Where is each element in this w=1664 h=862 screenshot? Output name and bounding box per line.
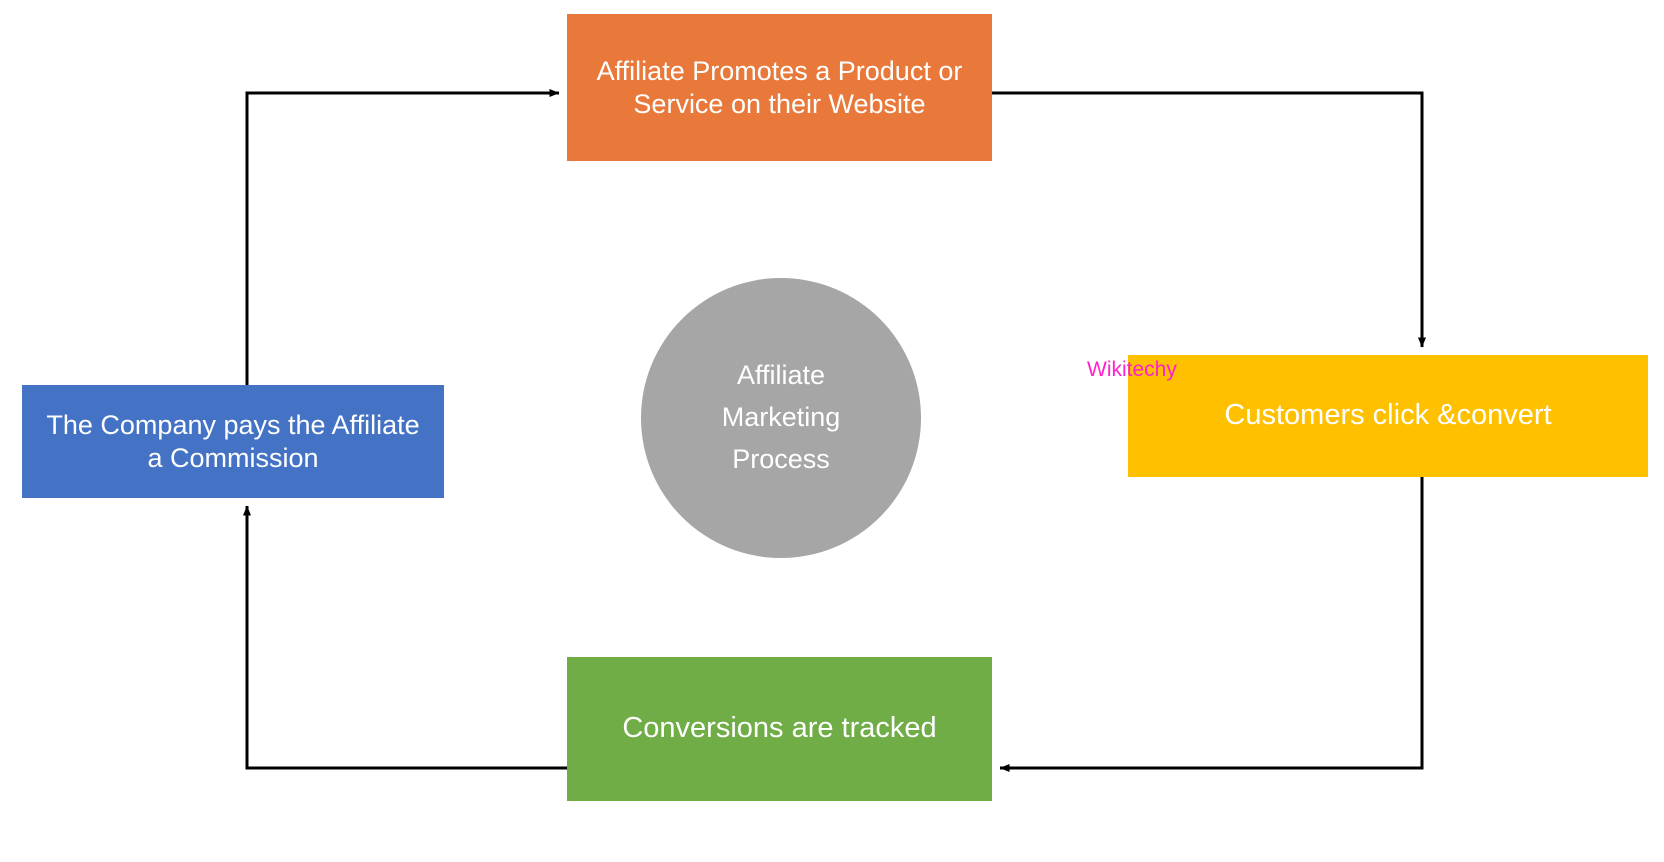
node-affiliate-promotes[interactable]: Affiliate Promotes a Product or Service …	[567, 14, 992, 161]
node-company-pays-commission[interactable]: The Company pays the Affiliate a Commiss…	[22, 385, 444, 498]
node-customers-click-convert[interactable]: Customers click &convert	[1128, 355, 1648, 477]
wikitechy-watermark: Wikitechy	[1087, 358, 1177, 382]
connector-tracked-to-commission	[247, 506, 567, 768]
connector-promote-to-convert	[992, 93, 1422, 347]
node-conversions-are-tracked[interactable]: Conversions are tracked	[567, 657, 992, 801]
diagram-canvas: Affiliate Promotes a Product or Service …	[0, 0, 1664, 862]
connector-convert-to-tracked	[1000, 477, 1422, 768]
node-customers-click-convert-label: Customers click &convert	[1138, 398, 1638, 433]
node-conversions-are-tracked-label: Conversions are tracked	[577, 711, 982, 746]
node-center-affiliate-marketing-process[interactable]: Affiliate Marketing Process	[641, 278, 921, 558]
node-company-pays-commission-label: The Company pays the Affiliate a Commiss…	[32, 409, 434, 475]
node-center-label: Affiliate Marketing Process	[651, 355, 911, 481]
node-affiliate-promotes-label: Affiliate Promotes a Product or Service …	[577, 55, 982, 121]
connector-commission-to-promote	[247, 93, 559, 385]
